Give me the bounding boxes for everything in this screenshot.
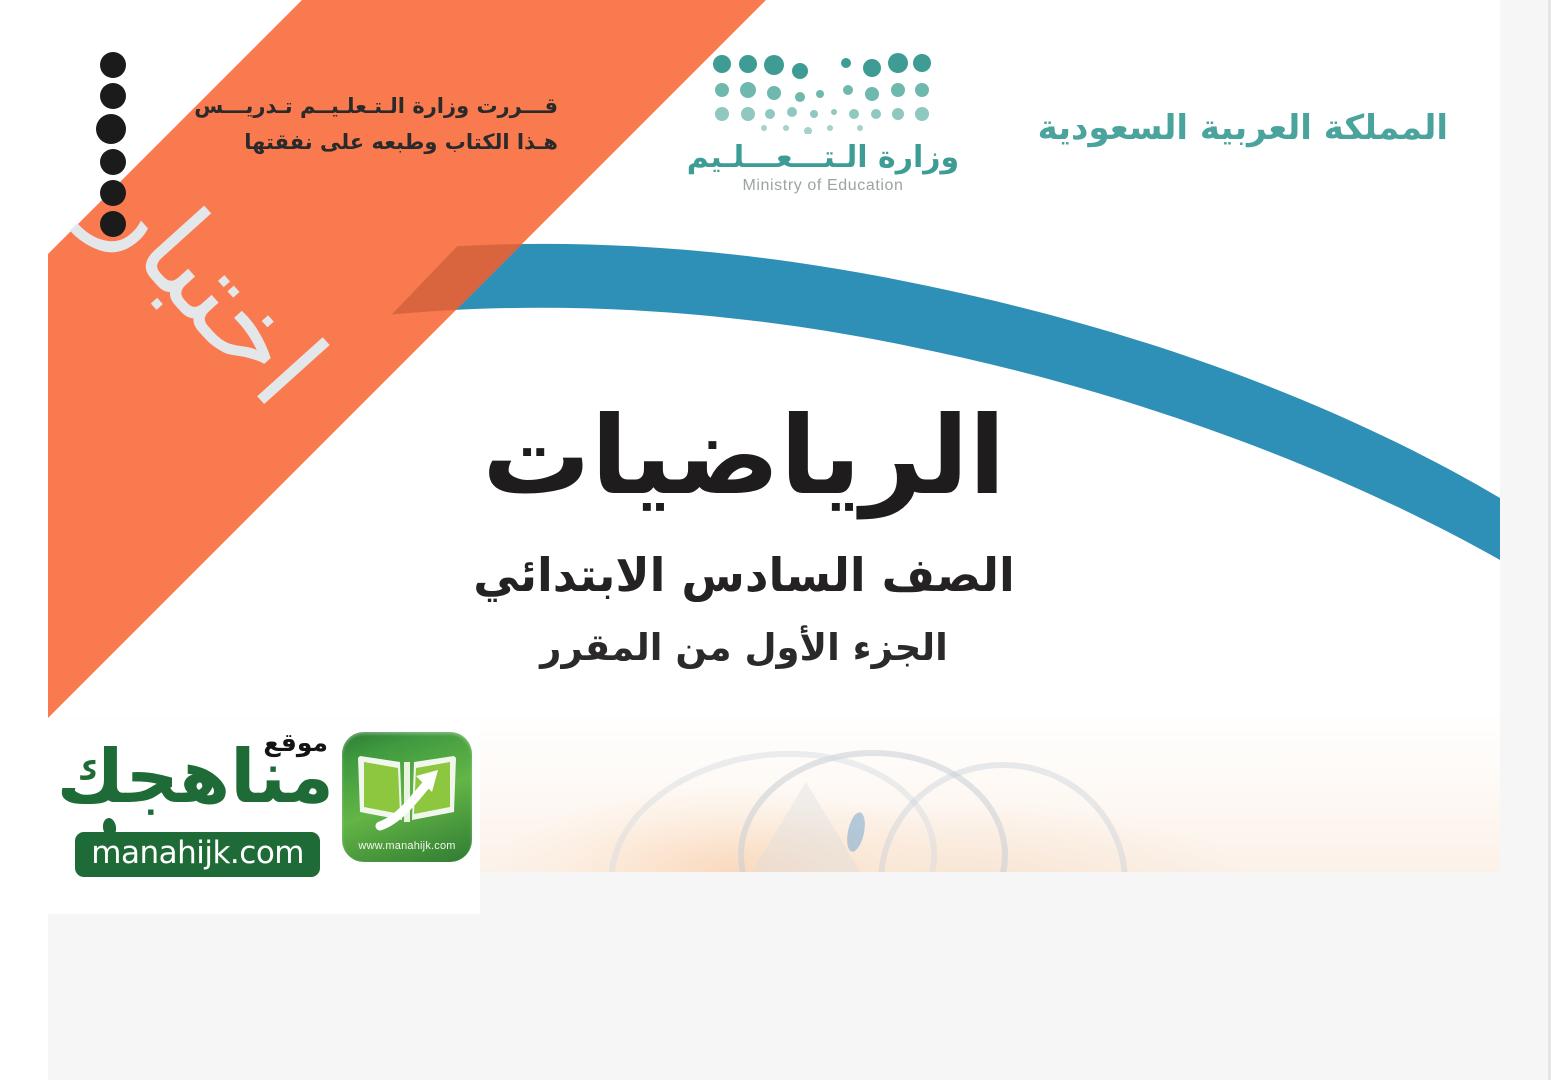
screenshot-root: اختبار قـــررت وزارة الـتـعلـيــم تـدريـ… (0, 0, 1551, 1080)
decree-dot (100, 52, 126, 78)
decree-dot (100, 83, 126, 109)
watermark-brand: مناهجك (57, 740, 334, 814)
decree-text: قـــررت وزارة الـتـعلـيــم تـدريـــس هـذ… (138, 88, 558, 160)
decree-line-1: قـــررت وزارة الـتـعلـيــم تـدريـــس (138, 88, 558, 124)
open-book-arrow-icon (350, 742, 464, 834)
watermark-url: manahijk.com (75, 832, 320, 877)
ministry-english-name: Ministry of Education (658, 177, 988, 195)
kingdom-label: المملكة العربية السعودية (1038, 108, 1448, 148)
exam-stamp-text: اختبار (80, 150, 344, 425)
ministry-arabic-name: وزارة الـتـــعـــلـيم (658, 140, 988, 175)
manahijk-app-icon: www.manahijk.com (342, 732, 472, 862)
decree-dot (100, 149, 126, 175)
icon-url-text: www.manahijk.com (342, 840, 472, 852)
cover-titles: الرياضيات الصف السادس الابتدائي الجزء ال… (48, 400, 1500, 669)
decree-dot (96, 114, 126, 144)
part-subtitle: الجزء الأول من المقرر (48, 626, 1500, 669)
set-square-icon (748, 782, 864, 872)
grade-subtitle: الصف السادس الابتدائي (48, 548, 1500, 602)
manahijk-watermark: www.manahijk.com موقع مناهجك manahijk.co… (0, 722, 480, 914)
subject-title: الرياضيات (48, 400, 1500, 514)
ministry-logo-block: وزارة الـتـــعـــلـيم Ministry of Educat… (658, 52, 988, 195)
decree-line-2: هـذا الكتاب وطبعه على نفقتها (138, 124, 558, 160)
saudi-dots-logo-icon (708, 52, 938, 134)
